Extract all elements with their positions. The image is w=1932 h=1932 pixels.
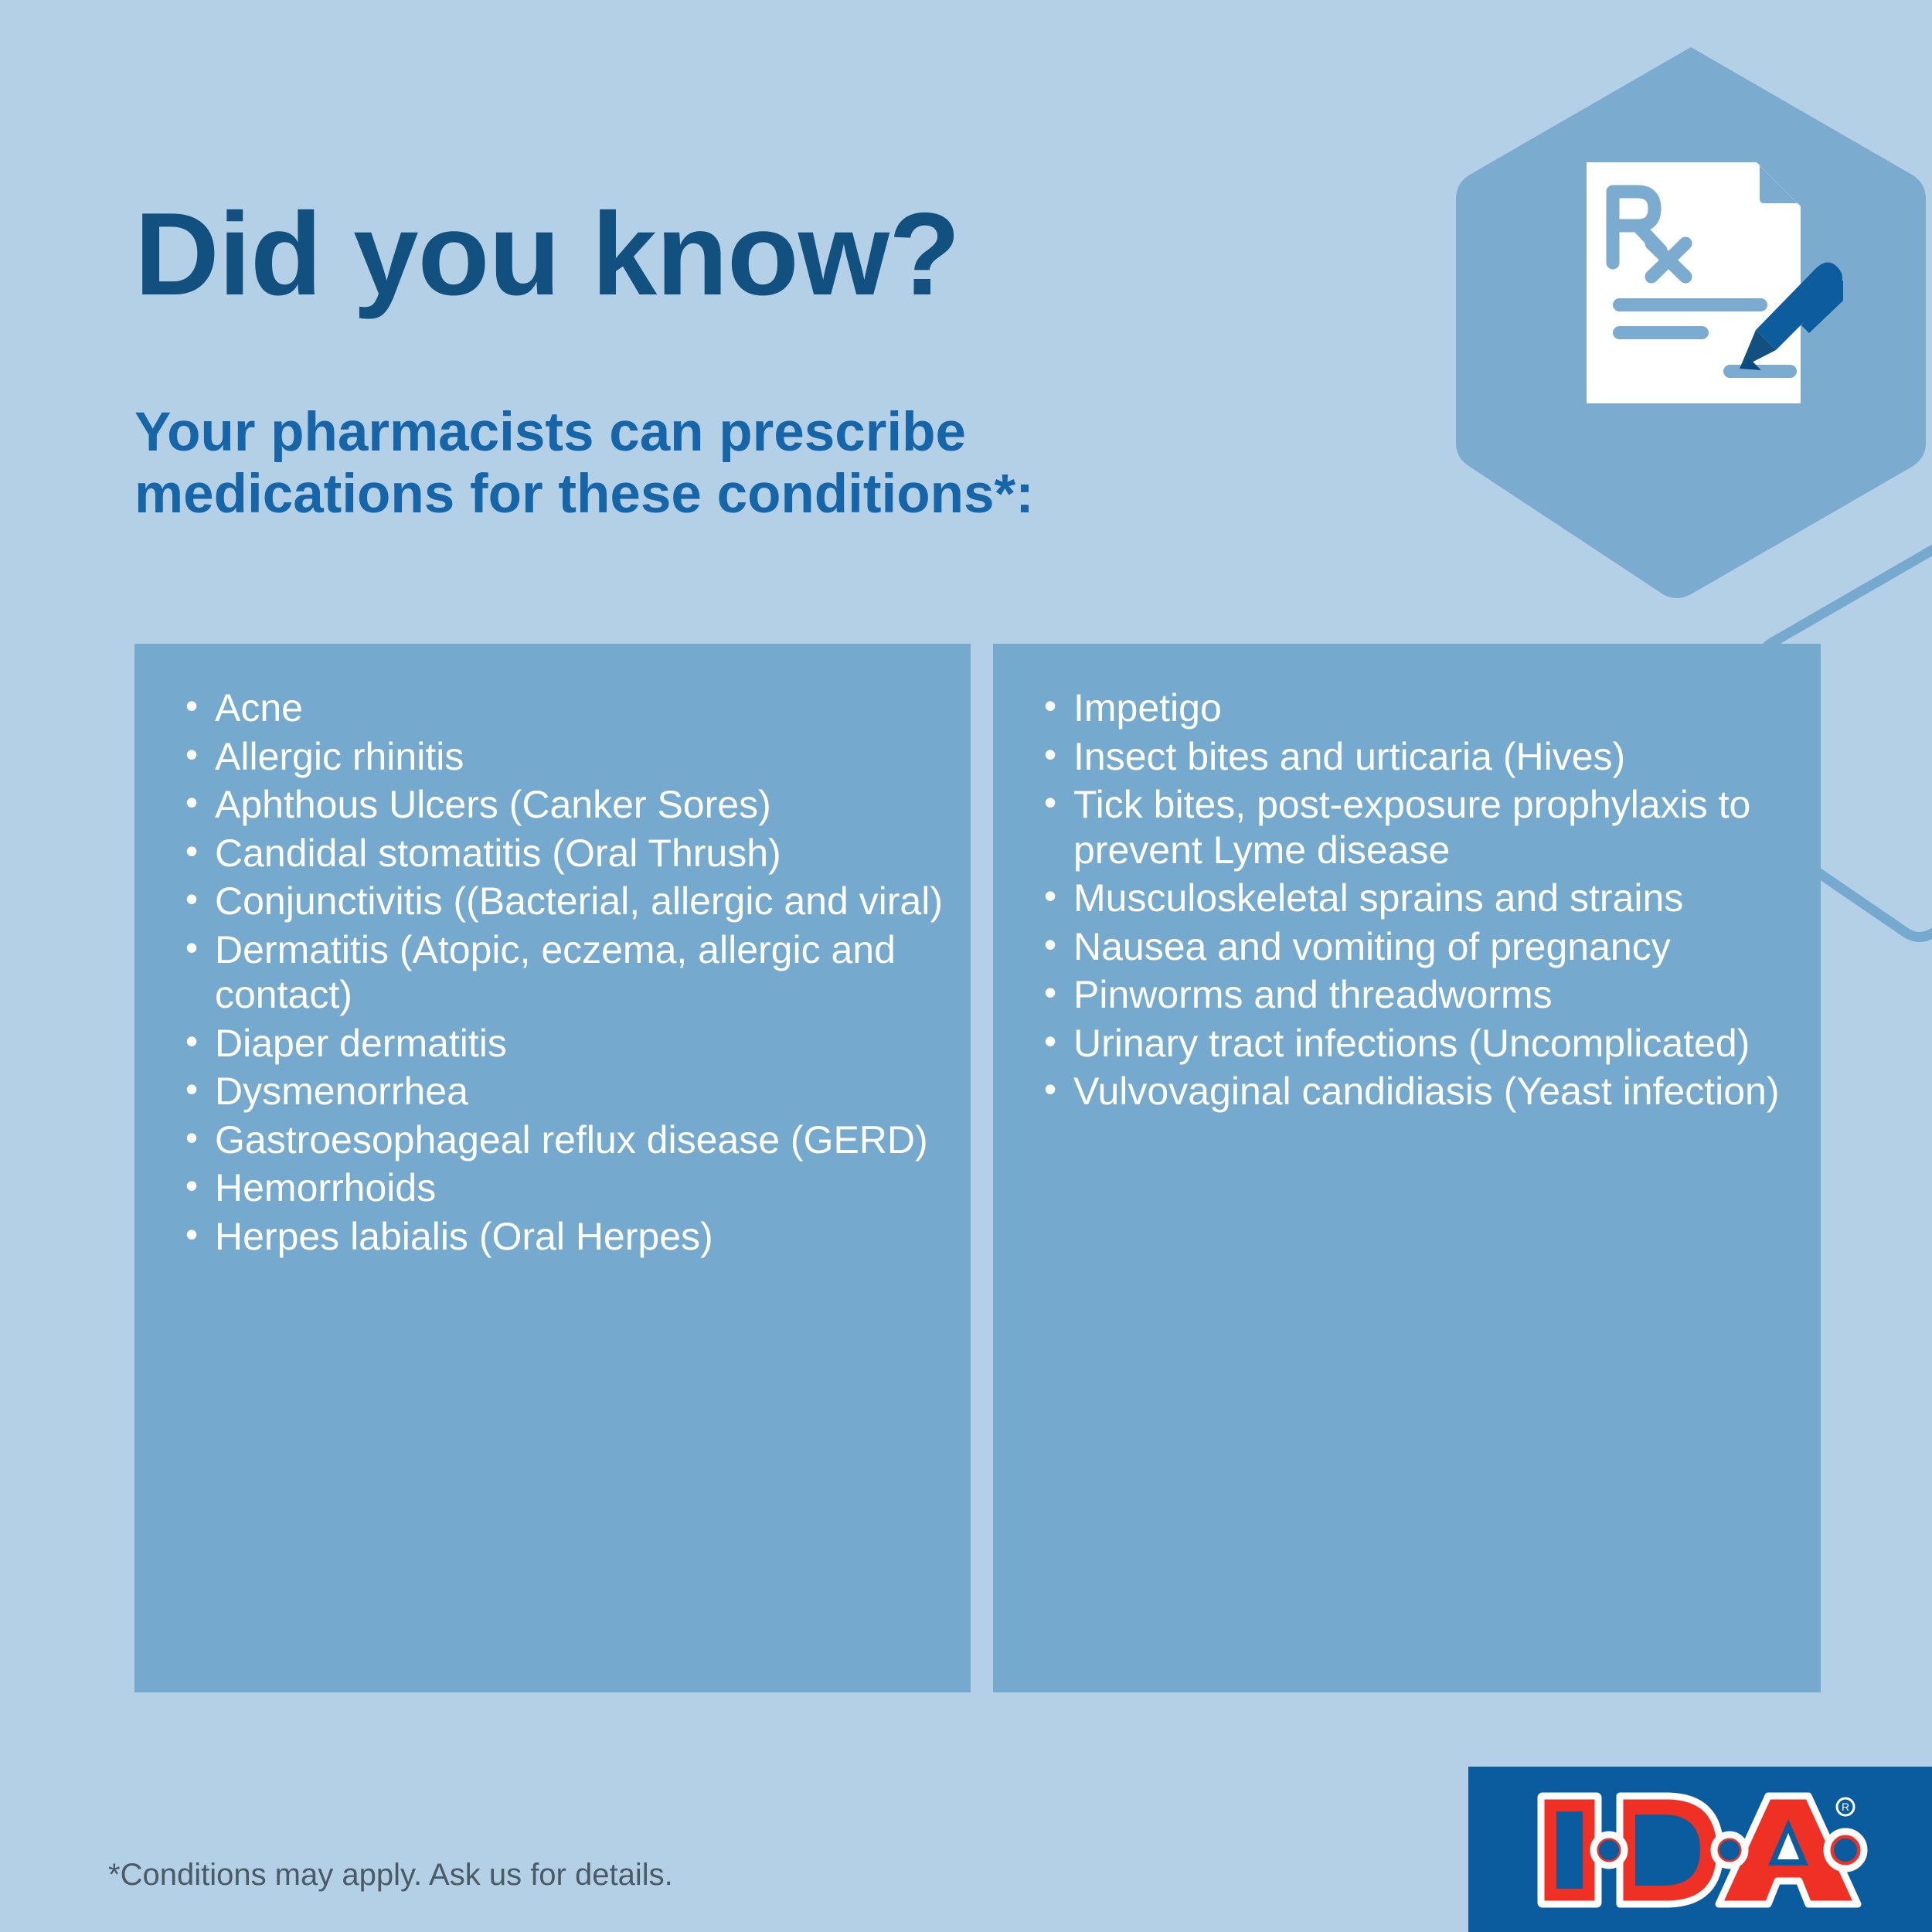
list-item: Musculoskeletal sprains and strains xyxy=(1039,876,1798,921)
subheading: Your pharmacists can prescribe medicatio… xyxy=(134,402,1294,526)
conditions-list-left: Acne Allergic rhinitis Aphthous Ulcers (… xyxy=(181,685,947,1259)
list-item: Herpes labialis (Oral Herpes) xyxy=(181,1214,947,1260)
list-item: Conjunctivitis ((Bacterial, allergic and… xyxy=(181,879,947,924)
list-item: Dysmenorrhea xyxy=(181,1069,947,1114)
list-item: Allergic rhinitis xyxy=(181,734,947,780)
list-item: Hemorrhoids xyxy=(181,1165,947,1211)
list-item: Dermatitis (Atopic, eczema, allergic and… xyxy=(181,927,947,1018)
subheading-line-2: medications for these conditions*: xyxy=(134,464,1294,526)
conditions-list-right: Impetigo Insect bites and urticaria (Hiv… xyxy=(1039,685,1798,1114)
conditions-panel-left: Acne Allergic rhinitis Aphthous Ulcers (… xyxy=(134,644,971,1692)
conditions-panel-right: Impetigo Insect bites and urticaria (Hiv… xyxy=(993,644,1821,1692)
rx-prescription-document-icon xyxy=(1580,155,1843,410)
subheading-line-1: Your pharmacists can prescribe xyxy=(134,402,1294,464)
ida-logo-icon: R xyxy=(1536,1788,1869,1912)
list-item: Aphthous Ulcers (Canker Sores) xyxy=(181,782,947,828)
list-item: Pinworms and threadworms xyxy=(1039,972,1798,1018)
footnote-text: *Conditions may apply. Ask us for detail… xyxy=(108,1858,673,1893)
list-item: Acne xyxy=(181,685,947,731)
list-item: Insect bites and urticaria (Hives) xyxy=(1039,734,1798,780)
list-item: Tick bites, post-exposure prophylaxis to… xyxy=(1039,782,1798,872)
list-item: Candidal stomatitis (Oral Thrush) xyxy=(181,831,947,876)
list-item: Diaper dermatitis xyxy=(181,1021,947,1066)
infographic-canvas: Did you know? Your pharmacists can presc… xyxy=(0,0,1932,1932)
page-title: Did you know? xyxy=(134,193,960,317)
list-item: Urinary tract infections (Uncomplicated) xyxy=(1039,1021,1798,1066)
svg-text:R: R xyxy=(1842,1801,1849,1813)
list-item: Impetigo xyxy=(1039,685,1798,731)
list-item: Nausea and vomiting of pregnancy xyxy=(1039,924,1798,970)
list-item: Vulvovaginal candidiasis (Yeast infectio… xyxy=(1039,1069,1798,1114)
list-item: Gastroesophageal reflux disease (GERD) xyxy=(181,1117,947,1163)
ida-logo: R xyxy=(1468,1767,1932,1932)
